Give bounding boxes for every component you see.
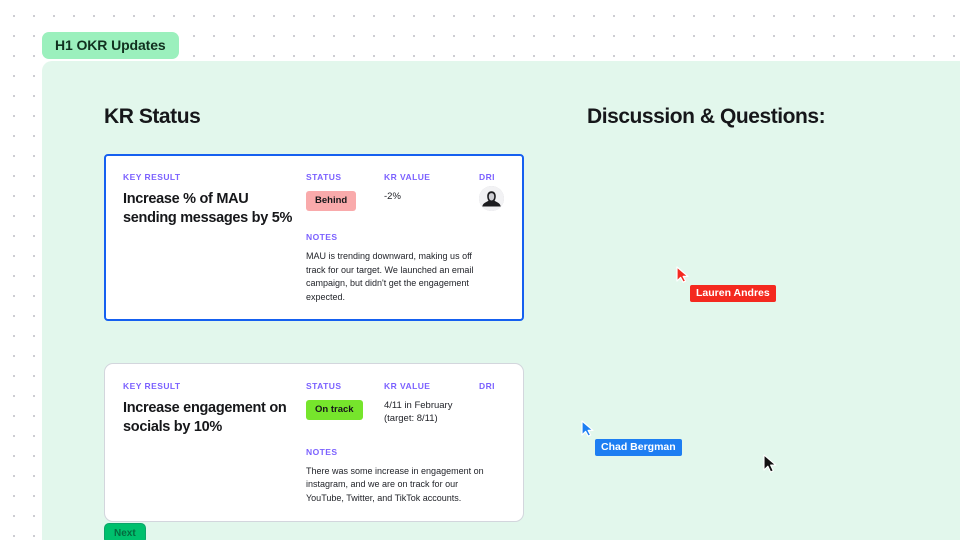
kr-card-key-result-block: KEY RESULT Increase % of MAU sending mes… [123, 172, 306, 305]
notes-label: NOTES [306, 232, 505, 242]
collaborator-name-label: Chad Bergman [595, 439, 682, 456]
avatar[interactable] [479, 186, 504, 211]
key-result-text: Increase engagement on socials by 10% [123, 399, 296, 438]
dri-column: DRI [479, 172, 505, 211]
kr-value-text: -2% [384, 190, 479, 203]
collaborator-cursor-lauren-andres: Lauren Andres [676, 266, 776, 302]
slide-tab-label[interactable]: H1 OKR Updates [42, 32, 179, 59]
notes-label: NOTES [306, 447, 505, 457]
dri-label: DRI [479, 172, 505, 182]
status-badge[interactable]: On track [306, 400, 363, 420]
discussion-heading: Discussion & Questions: [587, 105, 937, 129]
kr-value-column: KR VALUE 4/11 in February (target: 8/11) [384, 381, 479, 426]
notes-block: NOTES There was some increase in engagem… [306, 447, 505, 506]
kr-card-details-block: STATUS Behind KR VALUE -2% DRI [306, 172, 505, 305]
key-result-label: KEY RESULT [123, 172, 296, 182]
slide-canvas[interactable]: KR Status KEY RESULT Increase % of MAU s… [42, 61, 960, 540]
status-column: STATUS Behind [306, 172, 384, 211]
discussion-column: Discussion & Questions: [587, 105, 937, 154]
status-label: STATUS [306, 172, 384, 182]
status-column: STATUS On track [306, 381, 384, 420]
notes-block: NOTES MAU is trending downward, making u… [306, 232, 505, 305]
mouse-pointer-icon [763, 454, 777, 474]
kr-value-label: KR VALUE [384, 172, 479, 182]
status-label: STATUS [306, 381, 384, 391]
person-avatar-icon [479, 186, 504, 211]
dri-label: DRI [479, 381, 505, 391]
key-result-text: Increase % of MAU sending messages by 5% [123, 190, 296, 229]
collaborator-cursor-chad-bergman: Chad Bergman [581, 420, 682, 456]
kr-status-column: KR Status KEY RESULT Increase % of MAU s… [104, 105, 524, 540]
bottom-pill-label[interactable]: Next [104, 523, 146, 540]
kr-card[interactable]: KEY RESULT Increase engagement on social… [104, 363, 524, 522]
kr-card[interactable]: KEY RESULT Increase % of MAU sending mes… [104, 154, 524, 321]
kr-card-key-result-block: KEY RESULT Increase engagement on social… [123, 381, 306, 506]
kr-value-text: 4/11 in February (target: 8/11) [384, 399, 479, 426]
kr-card-details-block: STATUS On track KR VALUE 4/11 in Februar… [306, 381, 505, 506]
cursor-arrow-icon [676, 266, 689, 283]
dri-column: DRI [479, 381, 505, 399]
kr-value-column: KR VALUE -2% [384, 172, 479, 203]
collaborator-name-label: Lauren Andres [690, 285, 776, 302]
status-badge[interactable]: Behind [306, 191, 356, 211]
key-result-label: KEY RESULT [123, 381, 296, 391]
notes-text: MAU is trending downward, making us off … [306, 250, 489, 305]
kr-status-heading: KR Status [104, 105, 524, 129]
cursor-arrow-icon [581, 420, 594, 437]
notes-text: There was some increase in engagement on… [306, 465, 489, 506]
kr-value-label: KR VALUE [384, 381, 479, 391]
